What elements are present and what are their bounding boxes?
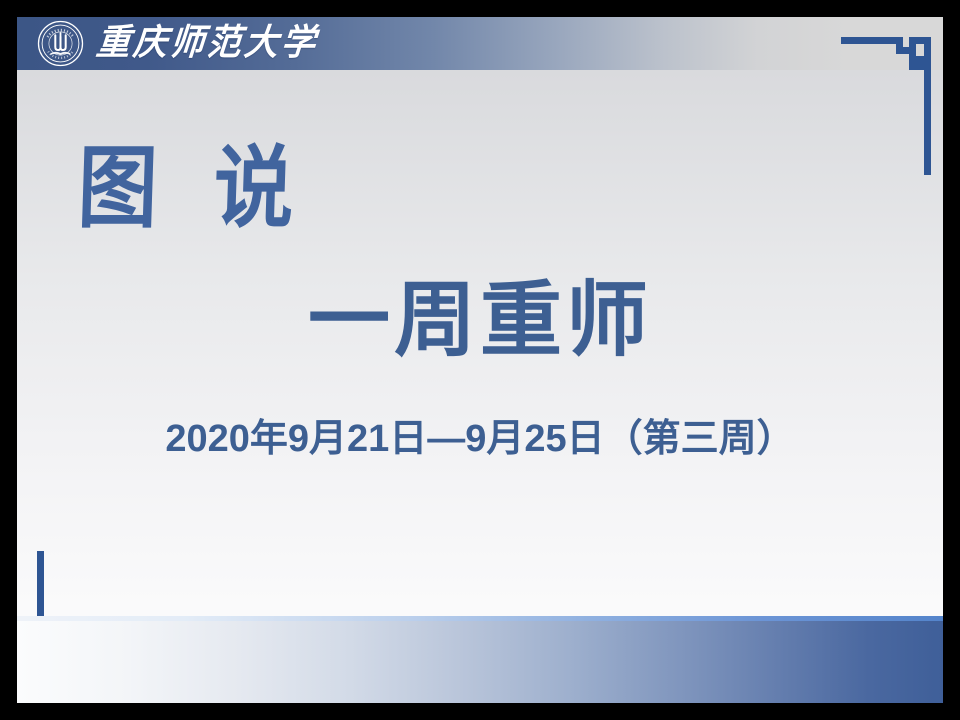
- university-seal-icon: [37, 20, 84, 67]
- university-name: 重庆师范大学: [94, 25, 319, 61]
- presentation-slide: 重庆师范大学: [17, 17, 943, 703]
- bottom-decorative-band: [17, 621, 943, 703]
- brush-title: 图 说: [76, 145, 313, 235]
- header-banner: 重庆师范大学: [17, 17, 943, 70]
- banner-content: 重庆师范大学: [37, 17, 318, 70]
- date-range-subtitle: 2020年9月21日—9月25日（第三周）: [17, 417, 943, 463]
- main-title: 一周重师: [17, 275, 943, 367]
- slide-stage: 重庆师范大学: [0, 0, 960, 720]
